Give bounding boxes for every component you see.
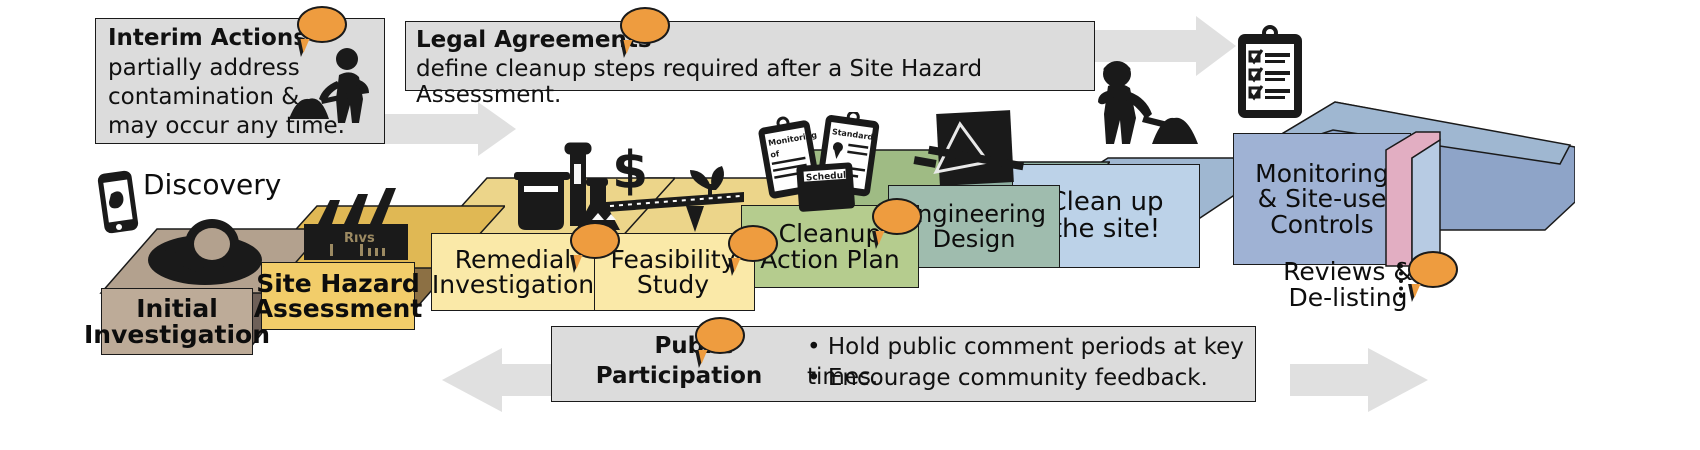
worker-shoveling-icon — [281, 47, 381, 127]
legal-agreements-speech-bubble-icon — [620, 7, 670, 44]
reviews-delisting-label: Reviews & De-listing — [1268, 259, 1428, 312]
public-participation-callout[interactable]: Public Participation • Hold public comme… — [551, 326, 1256, 402]
public-participation-title-line1: Public — [604, 333, 784, 359]
public-participation-speech-bubble-icon — [695, 317, 745, 354]
magnifying-glass-icon — [140, 218, 270, 293]
clipboards-standards-schedule-icon: Monitoring of Standards — [758, 112, 888, 222]
step7-label: Clean up the site! — [1044, 189, 1167, 242]
interim-actions-line-1: partially address — [108, 55, 300, 81]
interim-actions-arrow-shaft — [370, 114, 480, 144]
public-participation-arrow-left-head — [442, 348, 502, 412]
public-participation-arrow-right-head — [1368, 348, 1428, 412]
public-participation-bullet-2: • Encourage community feedback. — [807, 364, 1208, 394]
public-participation-title-line2: Participation — [564, 363, 794, 389]
diagram-canvas: Monitoring & Site-use Controls — [0, 0, 1700, 450]
step2-label: Site Hazard Assessment — [250, 271, 427, 322]
step1-label: Initial Investigation — [80, 296, 274, 347]
public-participation-arrow-right-shaft — [1290, 364, 1370, 396]
reviews-delisting-speech-bubble-icon — [1408, 251, 1458, 288]
legal-agreements-line-1: define cleanup steps required after a Si… — [416, 56, 1094, 108]
interim-actions-title: Interim Actions — [108, 25, 307, 51]
factory-label: Rıvs — [344, 231, 375, 246]
cleanup-action-plan-speech-bubble-icon — [872, 198, 922, 235]
mobile-phone-icon — [97, 170, 143, 238]
factory-icon: Rıvs — [300, 182, 425, 267]
reviews-delisting-line2: De-listing — [1268, 285, 1428, 311]
interim-actions-line-2: contamination & — [108, 84, 299, 110]
interim-actions-arrow-head — [478, 102, 516, 156]
discovery-label: Discovery — [143, 168, 281, 201]
step4-label: Feasibility Study — [607, 247, 740, 298]
step2-front-face[interactable]: Site Hazard Assessment — [261, 262, 415, 330]
drafting-triangle-icon — [908, 106, 1038, 196]
reviews-delisting-line1: Reviews & — [1268, 259, 1428, 285]
feasibility-study-speech-bubble-icon — [728, 225, 778, 262]
remedial-investigation-speech-bubble-icon — [570, 222, 620, 259]
pink-marker — [1378, 118, 1448, 268]
interim-actions-speech-bubble-icon — [297, 6, 347, 43]
step8-label: Monitoring & Site-use Controls — [1251, 161, 1393, 238]
step6-label: Engineering Design — [898, 202, 1050, 251]
interim-actions-callout[interactable]: Interim Actions partially address contam… — [95, 18, 385, 144]
step1-front-face[interactable]: Initial Investigation — [101, 288, 253, 355]
legal-agreements-callout[interactable]: Legal Agreements define cleanup steps re… — [405, 21, 1095, 91]
legal-agreements-title: Legal Agreements — [416, 27, 652, 53]
checklist-clipboard-icon — [1232, 24, 1310, 124]
